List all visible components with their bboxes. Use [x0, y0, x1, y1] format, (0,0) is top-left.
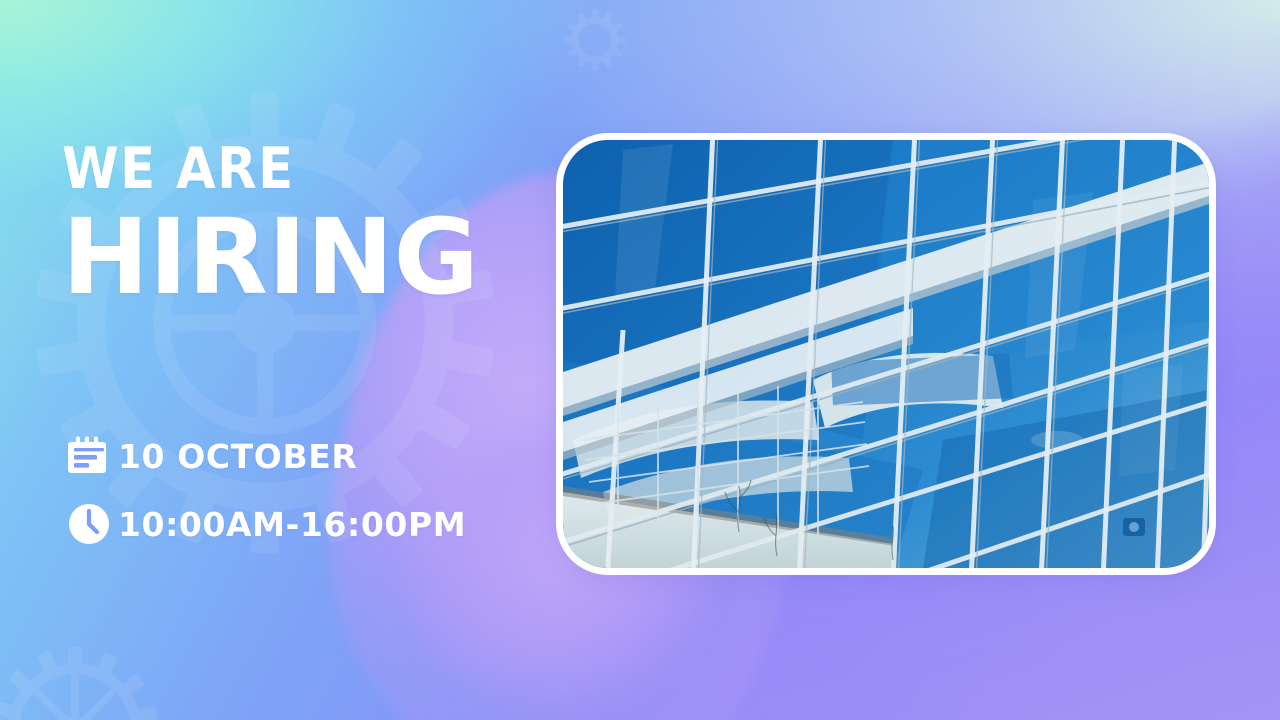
clock-icon: [68, 503, 118, 545]
detail-time-text: 10:00AM-16:00PM: [118, 505, 466, 544]
gear-small-icon: [563, 8, 627, 72]
event-details: 10 OCTOBER 10:00AM-16:00PM: [68, 428, 466, 564]
building-photo: [563, 140, 1209, 568]
headline-line-2: HIRING: [62, 212, 479, 304]
detail-date-text: 10 OCTOBER: [118, 437, 357, 476]
gear-bottom-left-icon: [0, 645, 160, 720]
detail-row-date: 10 OCTOBER: [68, 428, 466, 484]
photo-card: [556, 133, 1216, 575]
headline-line-1: WE ARE: [62, 141, 479, 198]
headline-block: WE ARE HIRING: [62, 141, 479, 304]
detail-row-time: 10:00AM-16:00PM: [68, 496, 466, 552]
poster-canvas: WE ARE HIRING 10 OCTOBER 10: [0, 0, 1280, 720]
calendar-icon: [68, 436, 118, 476]
